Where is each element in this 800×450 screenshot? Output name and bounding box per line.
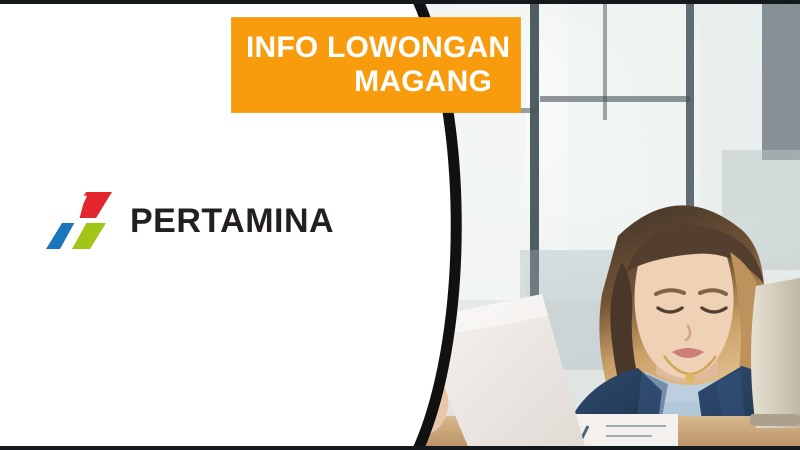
promo-banner: INFO LOWONGAN MAGANG PERTAMINA xyxy=(0,0,800,450)
bottom-edge-strip xyxy=(0,446,800,450)
pertamina-arrow-mark-icon xyxy=(46,190,114,252)
headline-line-2: MAGANG xyxy=(246,65,504,99)
pertamina-wordmark: PERTAMINA xyxy=(130,204,334,238)
pertamina-logo-lockup: PERTAMINA xyxy=(46,190,334,252)
top-edge-strip xyxy=(0,0,800,4)
headline-banner: INFO LOWONGAN MAGANG xyxy=(232,18,520,112)
headline-line-1: INFO LOWONGAN xyxy=(246,31,504,65)
